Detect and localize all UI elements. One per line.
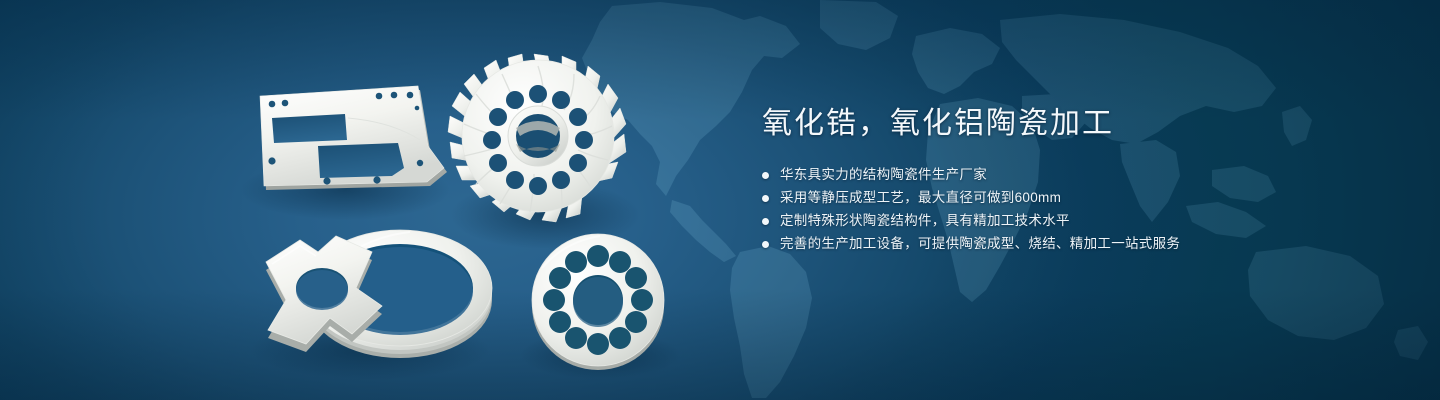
bullet-dot-icon bbox=[762, 195, 769, 202]
bullet-dot-icon bbox=[762, 218, 769, 225]
bullet-dot-icon bbox=[762, 241, 769, 248]
list-item-label: 华东具实力的结构陶瓷件生产厂家 bbox=[780, 164, 987, 186]
list-item-label: 完善的生产加工设备，可提供陶瓷成型、烧结、精加工一站式服务 bbox=[780, 233, 1180, 255]
list-item-label: 采用等静压成型工艺，最大直径可做到600mm bbox=[780, 187, 1061, 209]
list-item: 完善的生产加工设备，可提供陶瓷成型、烧结、精加工一站式服务 bbox=[762, 233, 1382, 255]
list-item-label: 定制特殊形状陶瓷结构件，具有精加工技术水平 bbox=[780, 210, 1070, 232]
banner-copy: 氧化锆，氧化铝陶瓷加工 华东具实力的结构陶瓷件生产厂家 采用等静压成型工艺，最大… bbox=[762, 104, 1382, 256]
feature-list: 华东具实力的结构陶瓷件生产厂家 采用等静压成型工艺，最大直径可做到600mm 定… bbox=[762, 164, 1382, 255]
page-title: 氧化锆，氧化铝陶瓷加工 bbox=[762, 104, 1382, 144]
list-item: 采用等静压成型工艺，最大直径可做到600mm bbox=[762, 187, 1382, 209]
list-item: 定制特殊形状陶瓷结构件，具有精加工技术水平 bbox=[762, 210, 1382, 232]
ceramic-product-banner: 氧化锆，氧化铝陶瓷加工 华东具实力的结构陶瓷件生产厂家 采用等静压成型工艺，最大… bbox=[0, 0, 1440, 400]
ceramic-machined-plate bbox=[260, 86, 447, 190]
bullet-dot-icon bbox=[762, 172, 769, 179]
ceramic-perforated-disc bbox=[532, 234, 664, 370]
ceramic-products-image bbox=[0, 0, 760, 400]
list-item: 华东具实力的结构陶瓷件生产厂家 bbox=[762, 164, 1382, 186]
